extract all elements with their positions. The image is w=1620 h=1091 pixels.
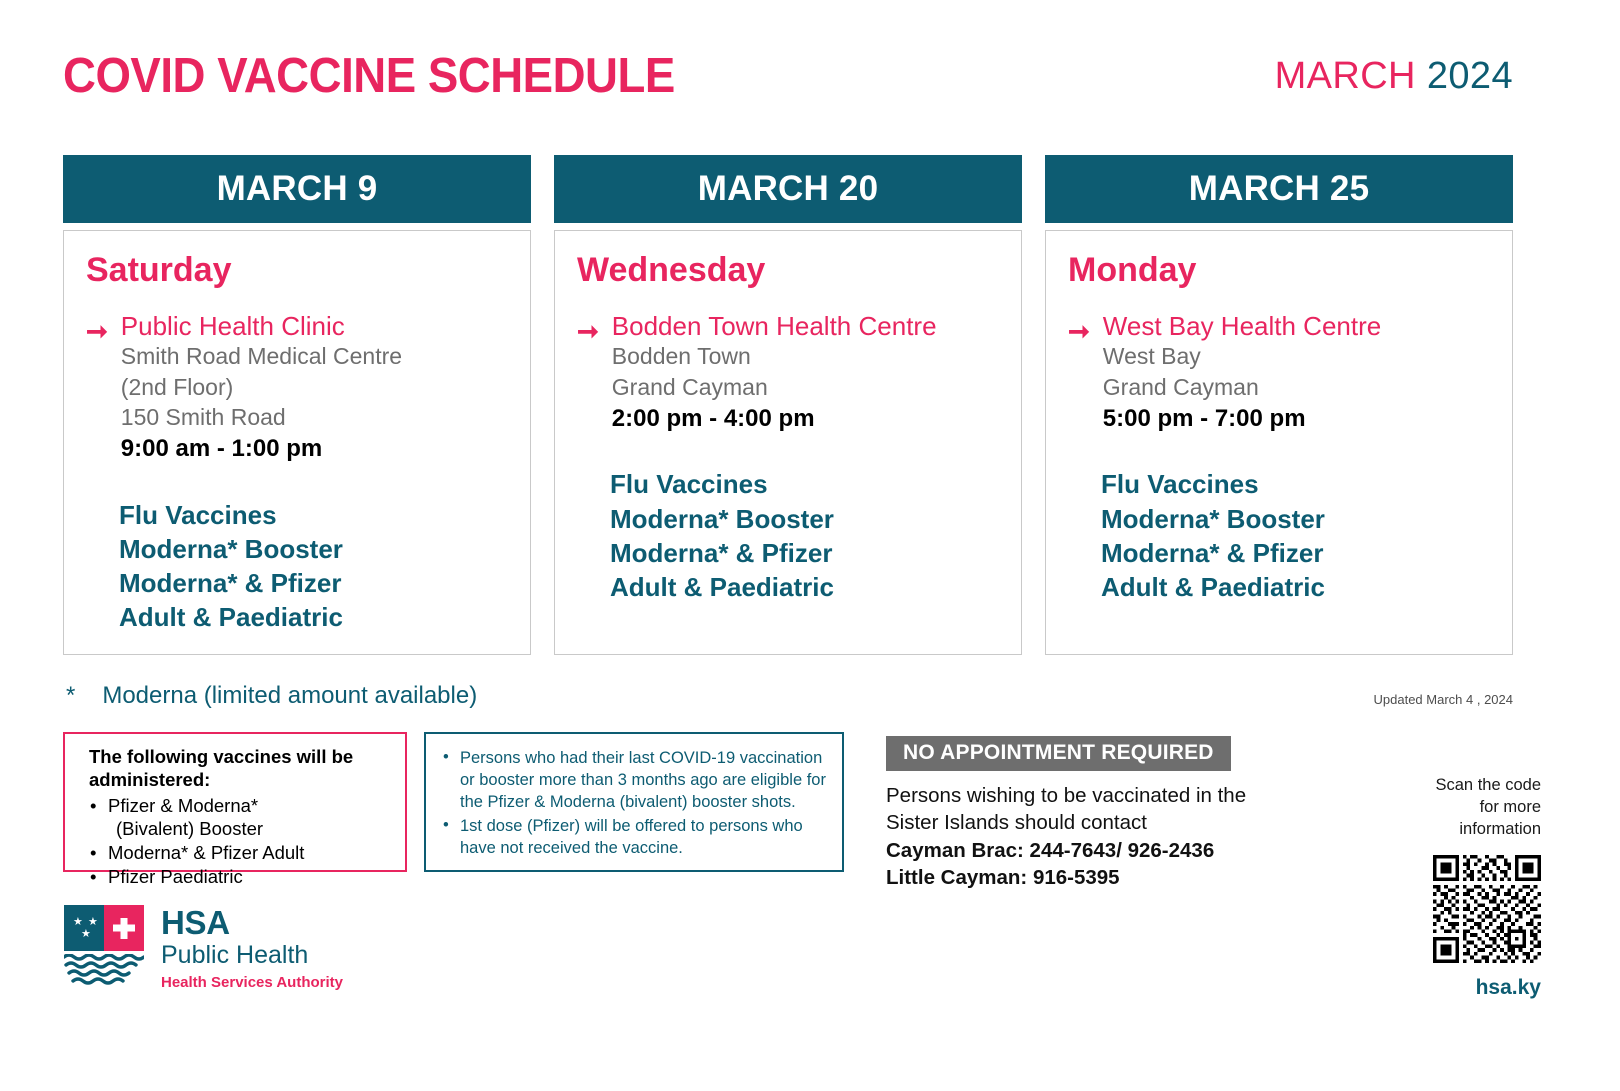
venue-time: 5:00 pm - 7:00 pm <box>1103 403 1494 435</box>
vaccines-administered-list: • Pfizer & Moderna* (Bivalent) Booster •… <box>89 794 392 889</box>
qr-caption: Scan the code for more information <box>1340 775 1555 841</box>
crest-cross-panel <box>104 905 144 951</box>
column-day-name: Saturday <box>86 253 512 289</box>
vaccine-item: Moderna* & Pfizer <box>119 566 512 600</box>
column-date-header: MARCH 20 <box>554 155 1022 223</box>
qr-code-icon[interactable] <box>1340 855 1555 963</box>
crest-stars-panel: ★ ★ ★ <box>64 905 104 951</box>
website-link[interactable]: hsa.ky <box>1340 976 1555 1000</box>
star-icon: ★ <box>73 917 83 928</box>
star-icon: ★ <box>81 929 91 940</box>
vaccine-list: Flu Vaccines Moderna* Booster Moderna* &… <box>1101 467 1494 603</box>
bullet-icon: • <box>443 746 449 768</box>
eligibility-box: • Persons who had their last COVID-19 va… <box>424 732 844 872</box>
venue-address-line: Bodden Town <box>612 341 1003 371</box>
column-body: Wednesday ➞ Bodden Town Health Centre Bo… <box>554 230 1022 655</box>
list-item: • Pfizer Paediatric <box>89 865 392 889</box>
qr-caption-line: information <box>1340 819 1541 841</box>
vaccine-item: Flu Vaccines <box>119 498 512 532</box>
list-item-text: 1st dose (Pfizer) will be offered to per… <box>460 817 803 857</box>
list-item: • Persons who had their last COVID-19 va… <box>439 747 832 813</box>
vaccine-item: Adult & Paediatric <box>119 600 512 634</box>
venue-time: 9:00 am - 1:00 pm <box>121 433 512 465</box>
bullet-icon: • <box>90 794 96 818</box>
venue-name: Bodden Town Health Centre <box>612 311 1003 342</box>
column-day-name: Monday <box>1068 253 1494 289</box>
footnote: * Moderna (limited amount available) <box>66 682 477 710</box>
venue-name: Public Health Clinic <box>121 311 512 342</box>
cross-icon <box>113 925 135 932</box>
vaccines-administered-box: The following vaccines will be administe… <box>63 732 407 872</box>
list-item-text: Persons who had their last COVID-19 vacc… <box>460 749 826 811</box>
cayman-brac-contact: Cayman Brac: 244-7643/ 926-2436 <box>886 837 1306 864</box>
arrow-right-icon: ➞ <box>86 318 108 344</box>
column-date-header: MARCH 25 <box>1045 155 1513 223</box>
header-date-year: 2024 <box>1427 55 1513 97</box>
vaccine-list: Flu Vaccines Moderna* Booster Moderna* &… <box>610 467 1003 603</box>
hsa-logo: ★ ★ ★ HSA Public Health <box>64 905 343 995</box>
sister-islands-line: Persons wishing to be vaccinated in the <box>886 782 1306 809</box>
venue-block: Public Health Clinic Smith Road Medical … <box>121 311 512 466</box>
vaccine-item: Adult & Paediatric <box>1101 570 1494 604</box>
schedule-column: MARCH 9 Saturday ➞ Public Health Clinic … <box>63 155 531 655</box>
bullet-icon: • <box>90 865 96 889</box>
venue-row: ➞ Bodden Town Health Centre Bodden Town … <box>577 311 1003 436</box>
venue-row: ➞ West Bay Health Centre West Bay Grand … <box>1068 311 1494 436</box>
hsa-division: Public Health <box>161 941 343 971</box>
bullet-icon: • <box>90 841 96 865</box>
little-cayman-contact: Little Cayman: 916-5395 <box>886 864 1306 891</box>
bullet-icon: • <box>443 814 449 836</box>
venue-address-line: Smith Road Medical Centre <box>121 341 512 371</box>
vaccine-item: Moderna* Booster <box>119 532 512 566</box>
eligibility-list: • Persons who had their last COVID-19 va… <box>439 747 832 860</box>
page-title: COVID VACCINE SCHEDULE <box>63 48 675 104</box>
vaccine-list: Flu Vaccines Moderna* Booster Moderna* &… <box>119 498 512 634</box>
hsa-acronym: HSA <box>161 906 343 939</box>
arrow-right-icon: ➞ <box>1068 318 1090 344</box>
qr-section: Scan the code for more information <box>1340 775 1555 1000</box>
venue-name: West Bay Health Centre <box>1103 311 1494 342</box>
vaccine-item: Moderna* Booster <box>610 502 1003 536</box>
venue-block: Bodden Town Health Centre Bodden Town Gr… <box>612 311 1003 436</box>
vaccines-administered-heading: The following vaccines will be administe… <box>89 745 392 792</box>
list-item: • Pfizer & Moderna* (Bivalent) Booster <box>89 794 392 841</box>
venue-time: 2:00 pm - 4:00 pm <box>612 403 1003 435</box>
vaccine-item: Flu Vaccines <box>1101 467 1494 501</box>
star-icon: ★ <box>88 917 98 928</box>
no-appointment-banner: NO APPOINTMENT REQUIRED <box>886 736 1231 771</box>
list-item-text: Pfizer & Moderna* <box>108 795 258 816</box>
venue-address-line: (2nd Floor) <box>121 372 512 402</box>
schedule-column: MARCH 25 Monday ➞ West Bay Health Centre… <box>1045 155 1513 655</box>
poster-header: COVID VACCINE SCHEDULE MARCH 2024 <box>63 41 1513 111</box>
updated-timestamp: Updated March 4 , 2024 <box>1374 692 1513 707</box>
venue-address-line: Grand Cayman <box>612 372 1003 402</box>
footnote-text: Moderna (limited amount available) <box>102 682 477 710</box>
poster-root: COVID VACCINE SCHEDULE MARCH 2024 MARCH … <box>0 0 1620 1091</box>
qr-caption-line: for more <box>1340 797 1541 819</box>
schedule-columns: MARCH 9 Saturday ➞ Public Health Clinic … <box>63 155 1513 655</box>
schedule-column: MARCH 20 Wednesday ➞ Bodden Town Health … <box>554 155 1022 655</box>
venue-address-line: 150 Smith Road <box>121 402 512 432</box>
arrow-right-icon: ➞ <box>577 318 599 344</box>
venue-block: West Bay Health Centre West Bay Grand Ca… <box>1103 311 1494 436</box>
hsa-org-name: Health Services Authority <box>161 974 343 992</box>
footnote-marker: * <box>66 682 75 710</box>
hsa-logo-text: HSA Public Health Health Services Author… <box>161 905 343 992</box>
vaccine-item: Moderna* & Pfizer <box>610 536 1003 570</box>
list-item-continuation: (Bivalent) Booster <box>108 817 392 841</box>
list-item: • 1st dose (Pfizer) will be offered to p… <box>439 815 832 859</box>
qr-caption-line: Scan the code <box>1340 775 1541 797</box>
header-date: MARCH 2024 <box>1275 55 1513 98</box>
vaccine-item: Moderna* & Pfizer <box>1101 536 1494 570</box>
no-appointment-section: NO APPOINTMENT REQUIRED Persons wishing … <box>886 736 1306 891</box>
list-item: • Moderna* & Pfizer Adult <box>89 841 392 865</box>
venue-address-line: Grand Cayman <box>1103 372 1494 402</box>
sister-islands-info: Persons wishing to be vaccinated in the … <box>886 782 1306 891</box>
list-item-text: Pfizer Paediatric <box>108 866 243 887</box>
vaccine-item: Moderna* Booster <box>1101 502 1494 536</box>
column-body: Monday ➞ West Bay Health Centre West Bay… <box>1045 230 1513 655</box>
venue-row: ➞ Public Health Clinic Smith Road Medica… <box>86 311 512 466</box>
waves-icon <box>64 954 144 990</box>
hsa-crest-icon: ★ ★ ★ <box>64 905 144 995</box>
vaccine-item: Flu Vaccines <box>610 467 1003 501</box>
sister-islands-line: Sister Islands should contact <box>886 809 1306 836</box>
column-day-name: Wednesday <box>577 253 1003 289</box>
column-date-header: MARCH 9 <box>63 155 531 223</box>
list-item-text: Moderna* & Pfizer Adult <box>108 842 304 863</box>
venue-address-line: West Bay <box>1103 341 1494 371</box>
column-body: Saturday ➞ Public Health Clinic Smith Ro… <box>63 230 531 655</box>
vaccine-item: Adult & Paediatric <box>610 570 1003 604</box>
header-date-month: MARCH <box>1275 55 1416 97</box>
